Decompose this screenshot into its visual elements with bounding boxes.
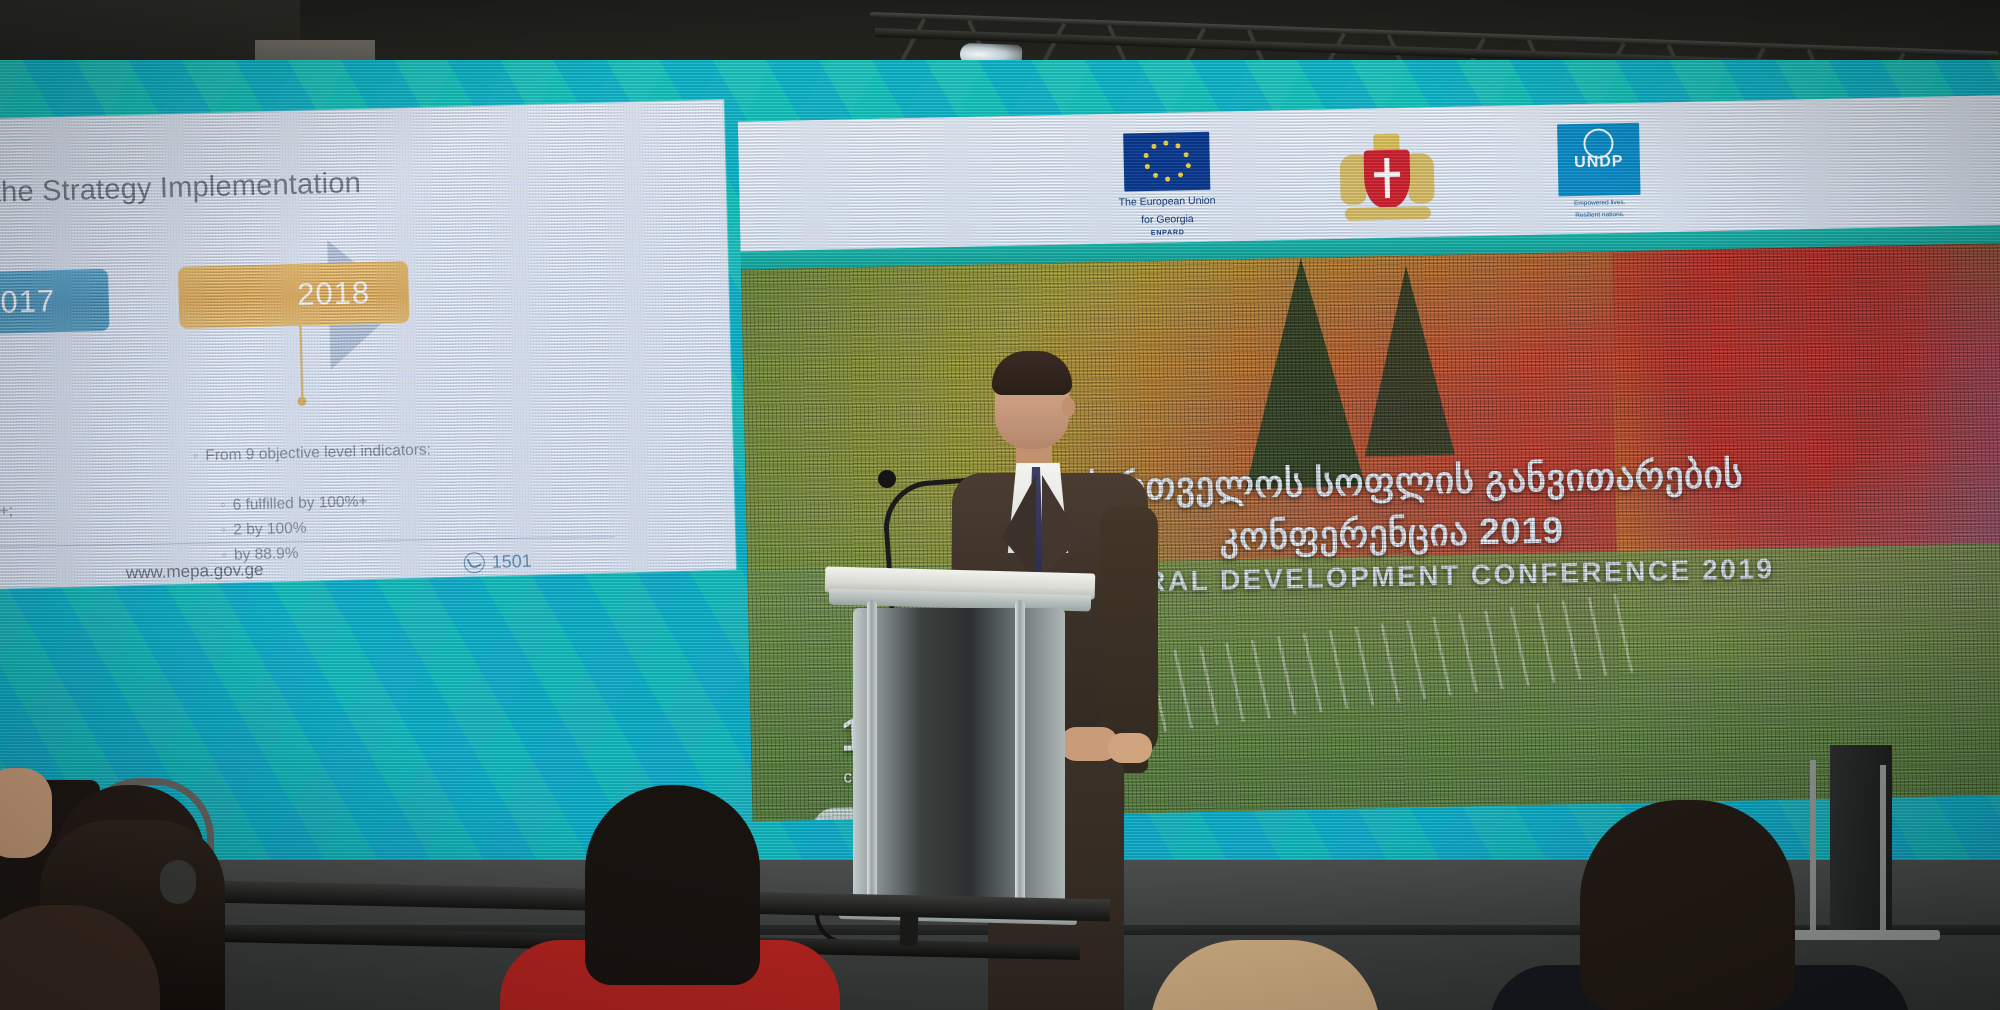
audience-member-headphones-hand [0,768,52,858]
undp-letters: UNDP [1558,155,1640,170]
year-tag-2018: 2018 [178,261,410,329]
undp-logo: UNDP Empowered lives. Resilient nations. [1538,122,1660,220]
podium-post [867,600,877,912]
speaker-hair [992,351,1072,395]
headphone-earcup-icon [160,860,196,904]
year-tag-2018-label: 2018 [297,275,371,313]
eu-flag-icon [1123,132,1210,192]
eu-logo-caption-line1: The European Union [1099,194,1234,210]
coat-of-arms-cross-icon [1384,158,1390,198]
undp-caption-line1: Empowered lives. [1540,198,1660,209]
audience-member-suit [1580,800,1795,1010]
speaker-arm [1100,505,1158,755]
speaker-podium [845,570,1105,940]
conference-stage-photo: ults of the Strategy Implementation 2017… [0,0,2000,1010]
speaker-ear [1062,397,1075,417]
equipment-stand-foot [1790,930,1940,940]
equipment-stand-pole [1880,765,1886,935]
slide-title: ults of the Strategy Implementation [0,167,361,212]
logo-row: The European Union for Georgia ENPARD [1098,122,1660,239]
georgia-coat-of-arms-logo [1321,127,1453,230]
coat-of-arms-lion-left-icon [1339,154,1366,205]
eu-logo-caption-line2: for Georgia [1100,212,1235,228]
timeline-dot-2018 [297,397,306,406]
podium-front-panel [853,608,1065,908]
podium-post [1015,600,1025,912]
audience-member-red-jacket-head [585,785,760,985]
slide-footer-phone-number: 1501 [491,551,532,573]
speaker-hand [1108,733,1152,763]
coat-of-arms-cross-icon [1374,172,1400,178]
conifer-tree-icon [1241,257,1366,489]
timeline-stem-2018 [299,326,303,398]
slide-column-left: r level indicators: d by 100% or 100%+; … [0,448,33,590]
undp-box-icon: UNDP [1557,123,1640,197]
equipment-stand-pole [1810,760,1816,935]
phone-icon [463,552,485,574]
eu-flag-logo: The European Union for Georgia ENPARD [1098,131,1235,238]
microphone-head-icon [878,470,896,488]
eu-logo-enpard-label: ENPARD [1100,228,1235,238]
slide-footer-phone: 1501 [463,551,532,574]
year-tag-2017: 2017 [0,269,110,338]
conifer-tree-icon [1361,265,1455,457]
undp-caption-line2: Resilient nations. [1540,210,1660,221]
coat-of-arms-lion-right-icon [1407,153,1434,204]
presentation-slide-left: ults of the Strategy Implementation 2017… [0,100,736,591]
slide-footer-url: www.mepa.gov.ge [126,560,264,584]
coat-of-arms-ribbon-icon [1344,206,1430,221]
rail-clip [900,912,919,946]
year-tag-2017-label: 2017 [0,283,56,321]
